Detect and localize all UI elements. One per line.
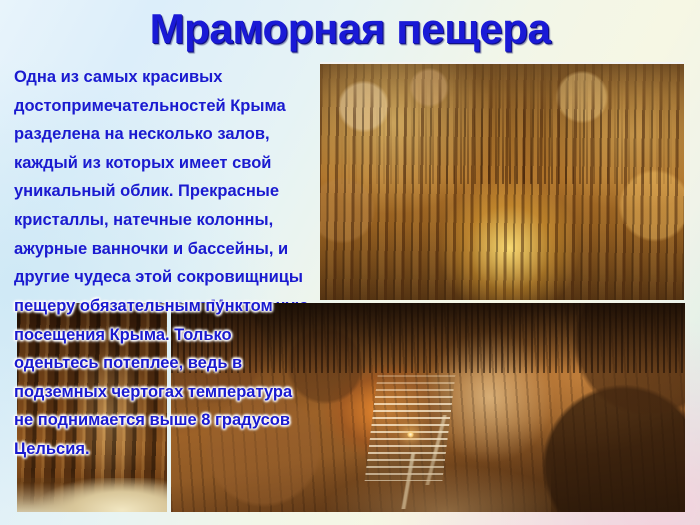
cave-interior-photo (320, 62, 684, 300)
photo-lamp-glow (407, 431, 414, 438)
page-title: Мраморная пещера (0, 4, 700, 54)
body-paragraph-lower: пещеру обязательным пунктом посещения Кр… (14, 292, 332, 464)
photo-texture-ceiling-stalactites (320, 64, 684, 184)
photo-texture-floor (17, 478, 167, 512)
presentation-slide: Мраморная пещера Одна из самых красивых … (0, 0, 700, 525)
body-paragraph-upper: Одна из самых красивых достопримечательн… (14, 63, 320, 320)
